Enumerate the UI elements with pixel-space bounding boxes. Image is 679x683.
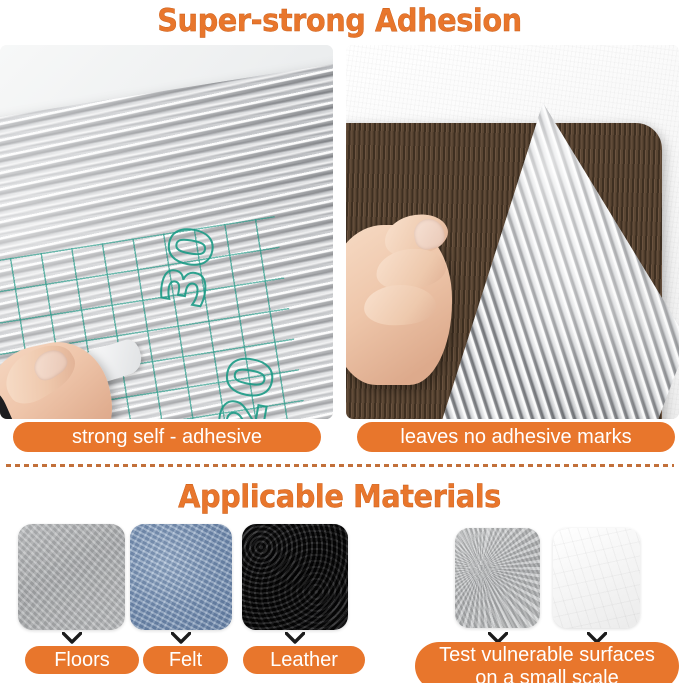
printed-number-30: 30 (148, 221, 229, 312)
warning-line-2: on a small scale (415, 667, 679, 683)
warning-test-vulnerable-surfaces: Test vulnerable surfaces on a small scal… (415, 642, 679, 683)
caption-strong-self-adhesive: strong self - adhesive (13, 422, 321, 452)
photo-leaves-no-marks (346, 45, 679, 419)
hand-lifting-mat (346, 225, 452, 385)
top-section-title: Super-strong Adhesion (24, 2, 655, 40)
material-label-leather: Leather (243, 646, 365, 674)
bottom-section-title: Applicable Materials (24, 478, 655, 516)
printed-number-20: 20 (206, 351, 289, 419)
grey-stucco-swatch (455, 528, 540, 628)
material-label-felt: Felt (143, 646, 228, 674)
dashed-divider (6, 464, 674, 467)
white-plaster-swatch (553, 528, 640, 628)
blue-felt-swatch (130, 524, 232, 630)
chevron-down-icon (285, 632, 305, 645)
photo-strong-self-adhesive: 30 20 (0, 45, 333, 419)
grey-concrete-swatch (18, 524, 125, 630)
warning-line-1: Test vulnerable surfaces (415, 644, 679, 667)
chevron-down-icon (171, 632, 191, 645)
infographic-page: Super-strong Adhesion 30 20 strong self … (0, 0, 679, 683)
ring-finger (363, 283, 437, 327)
caption-leaves-no-adhesive-marks: leaves no adhesive marks (357, 422, 675, 452)
black-leather-swatch (242, 524, 348, 630)
chevron-down-icon (62, 632, 82, 645)
material-label-floors: Floors (25, 646, 139, 674)
